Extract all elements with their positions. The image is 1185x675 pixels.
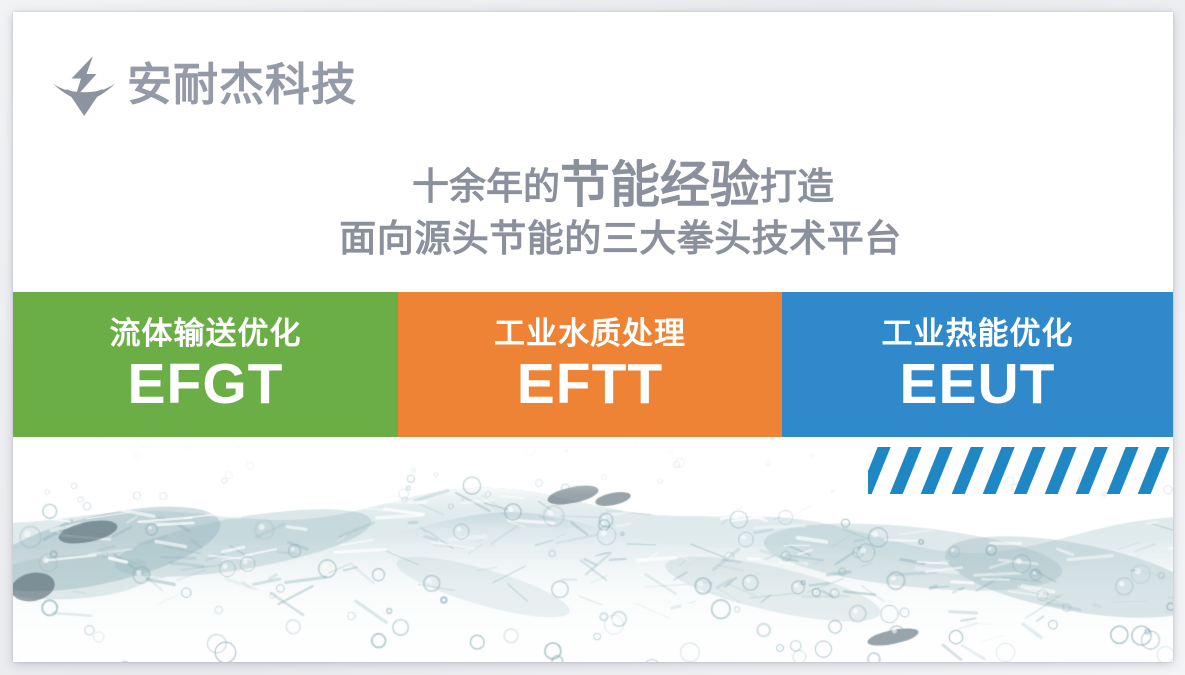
platform-name-cn: 流体输送优化	[110, 318, 302, 349]
platform-card-eeut[interactable]: 工业热能优化 EEUT	[782, 292, 1173, 437]
platform-name-cn: 工业热能优化	[882, 318, 1074, 349]
splashing-water-photo	[13, 437, 1173, 662]
logo-mark	[51, 54, 117, 118]
headline-line-1: 十余年的节能经验打造	[13, 160, 1173, 210]
platform-name-cn: 工业水质处理	[494, 318, 686, 349]
platform-card-efgt[interactable]: 流体输送优化 EFGT	[13, 292, 398, 437]
lightning-bolt-icon	[72, 56, 97, 98]
headline-suffix: 打造	[760, 166, 834, 207]
headline: 十余年的节能经验打造 面向源头节能的三大拳头技术平台	[13, 160, 1173, 257]
headline-emphasis: 节能经验	[560, 157, 760, 213]
water-photo-canvas	[13, 437, 1173, 662]
company-name: 安耐杰科技	[127, 62, 357, 111]
headline-prefix: 十余年的	[412, 166, 560, 207]
company-logo: 安耐杰科技	[51, 50, 357, 122]
headline-line-2: 面向源头节能的三大拳头技术平台	[13, 220, 1173, 257]
slide-frame: 安耐杰科技 十余年的节能经验打造 面向源头节能的三大拳头技术平台 流体输送优化 …	[0, 0, 1185, 675]
platform-bands: 流体输送优化 EFGT 工业水质处理 EFTT 工业热能优化 EEUT	[13, 292, 1173, 437]
presentation-slide: 安耐杰科技 十余年的节能经验打造 面向源头节能的三大拳头技术平台 流体输送优化 …	[13, 12, 1173, 662]
platform-code: EFGT	[128, 355, 284, 415]
platform-code: EFTT	[517, 355, 663, 415]
platform-code: EEUT	[899, 355, 1055, 415]
logo-triangle-icon	[66, 89, 103, 116]
platform-card-eftt[interactable]: 工业水质处理 EFTT	[398, 292, 782, 437]
